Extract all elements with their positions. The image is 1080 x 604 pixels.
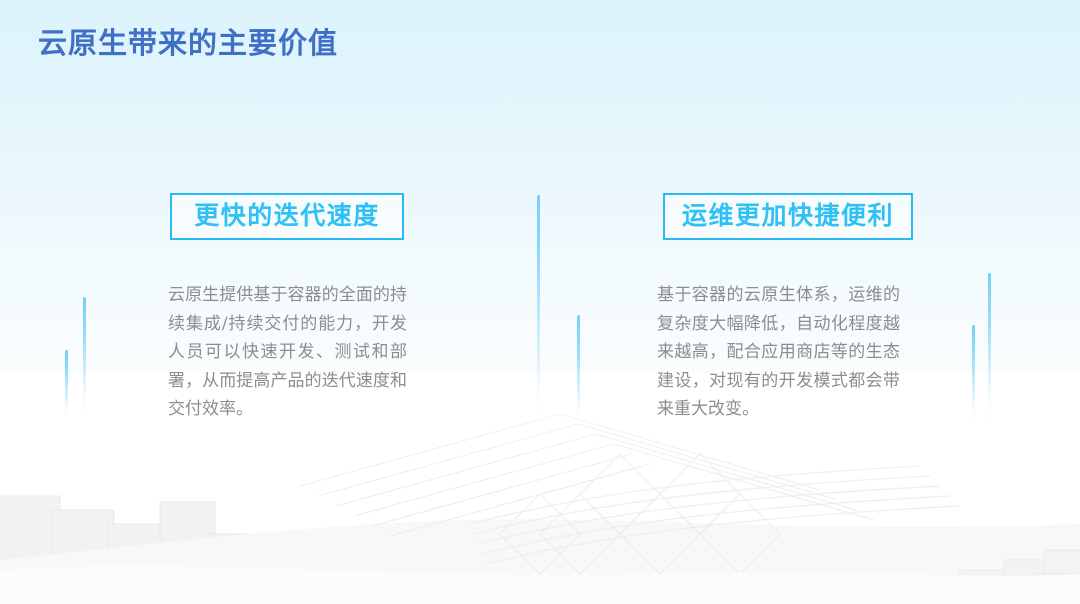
decorative-line-left-short — [65, 350, 68, 422]
decorative-line-left-tall — [83, 297, 86, 419]
card-1-heading-label: 更快的迭代速度 — [194, 204, 380, 229]
page-title: 云原生带来的主要价值 — [38, 20, 338, 62]
card-2-heading-label: 运维更加快捷便利 — [682, 204, 894, 229]
slide-root: 云原生带来的主要价值 更快的迭代速度 云原生提供基于容器的全面的持续集成/持续交… — [0, 0, 1080, 604]
card-2-body-text: 基于容器的云原生体系，运维的复杂度大幅降低，自动化程度越来越高，配合应用商店等的… — [657, 281, 900, 424]
card-1-heading-box[interactable]: 更快的迭代速度 — [170, 193, 404, 240]
decorative-line-center-tall — [537, 195, 540, 425]
decorative-line-right-short — [972, 325, 975, 425]
card-2-heading-box[interactable]: 运维更加快捷便利 — [663, 193, 913, 240]
background-scenery — [0, 374, 1080, 604]
card-1-body-text: 云原生提供基于容器的全面的持续集成/持续交付的能力，开发人员可以快速开发、测试和… — [168, 281, 407, 424]
decorative-line-right-tall — [988, 273, 991, 425]
scenery-illustration — [0, 374, 1080, 604]
decorative-line-center-short — [577, 315, 580, 427]
